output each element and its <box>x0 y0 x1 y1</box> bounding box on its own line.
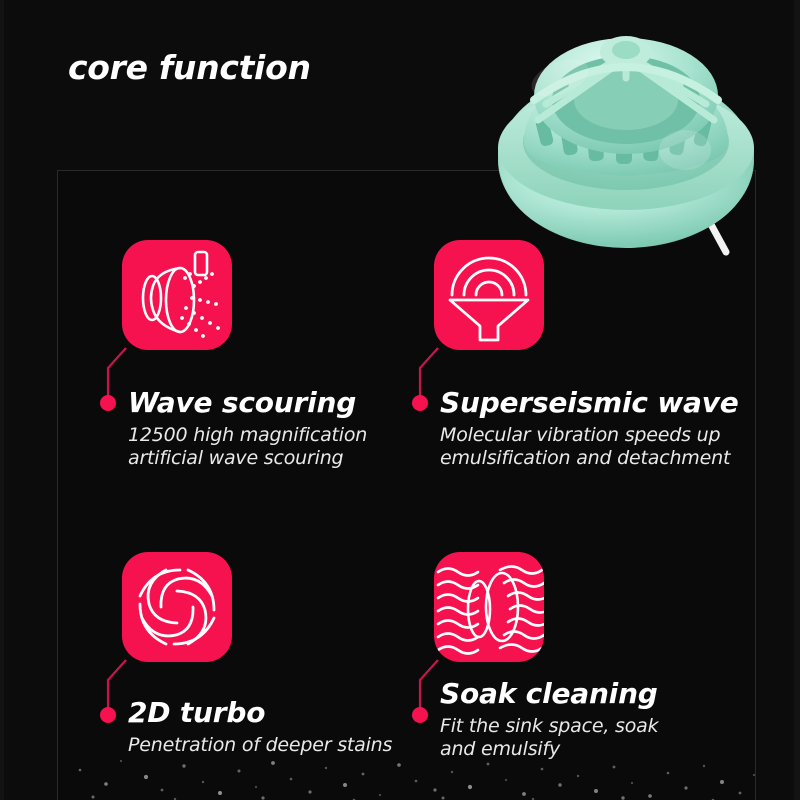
wave-scouring-description-line-2: artificial wave scouring <box>128 447 367 470</box>
wave-scouring-icon <box>122 240 232 350</box>
soak-cleaning-description-line-2: and emulsify <box>440 738 658 761</box>
turbo-description-line-1: Penetration of deeper stains <box>128 734 392 757</box>
turbo-spiral-icon <box>122 552 232 662</box>
turbo-spiral-tile[interactable] <box>122 552 232 662</box>
superseismic-wave-heading: Superseismic wave <box>440 387 739 419</box>
turbo-heading: 2D turbo <box>128 697 265 729</box>
superseismic-wave-tile[interactable] <box>434 240 544 350</box>
turbo-description: Penetration of deeper stains <box>128 734 392 757</box>
wave-scouring-tile[interactable] <box>122 240 232 350</box>
wave-scouring-heading: Wave scouring <box>128 387 356 419</box>
soak-cleaning-heading: Soak cleaning <box>440 678 658 710</box>
right-edge-band <box>794 0 800 800</box>
soak-cleaning-icon <box>434 552 544 662</box>
superseismic-wave-description-line-1: Molecular vibration speeds up <box>440 424 730 447</box>
soak-cleaning-description-line-1: Fit the sink space, soak <box>440 715 658 738</box>
infographic-poster: core function <box>0 0 800 800</box>
soak-cleaning-tile[interactable] <box>434 552 544 662</box>
wave-scouring-description-line-1: 12500 high magnification <box>128 424 367 447</box>
left-edge-band <box>0 0 4 800</box>
soak-cleaning-description: Fit the sink space, soak and emulsify <box>440 715 658 761</box>
superseismic-wave-description-line-2: emulsification and detachment <box>440 447 730 470</box>
page-title: core function <box>68 48 311 87</box>
wave-scouring-description: 12500 high magnification artificial wave… <box>128 424 367 470</box>
superseismic-wave-icon <box>434 240 544 350</box>
superseismic-wave-description: Molecular vibration speeds up emulsifica… <box>440 424 730 470</box>
